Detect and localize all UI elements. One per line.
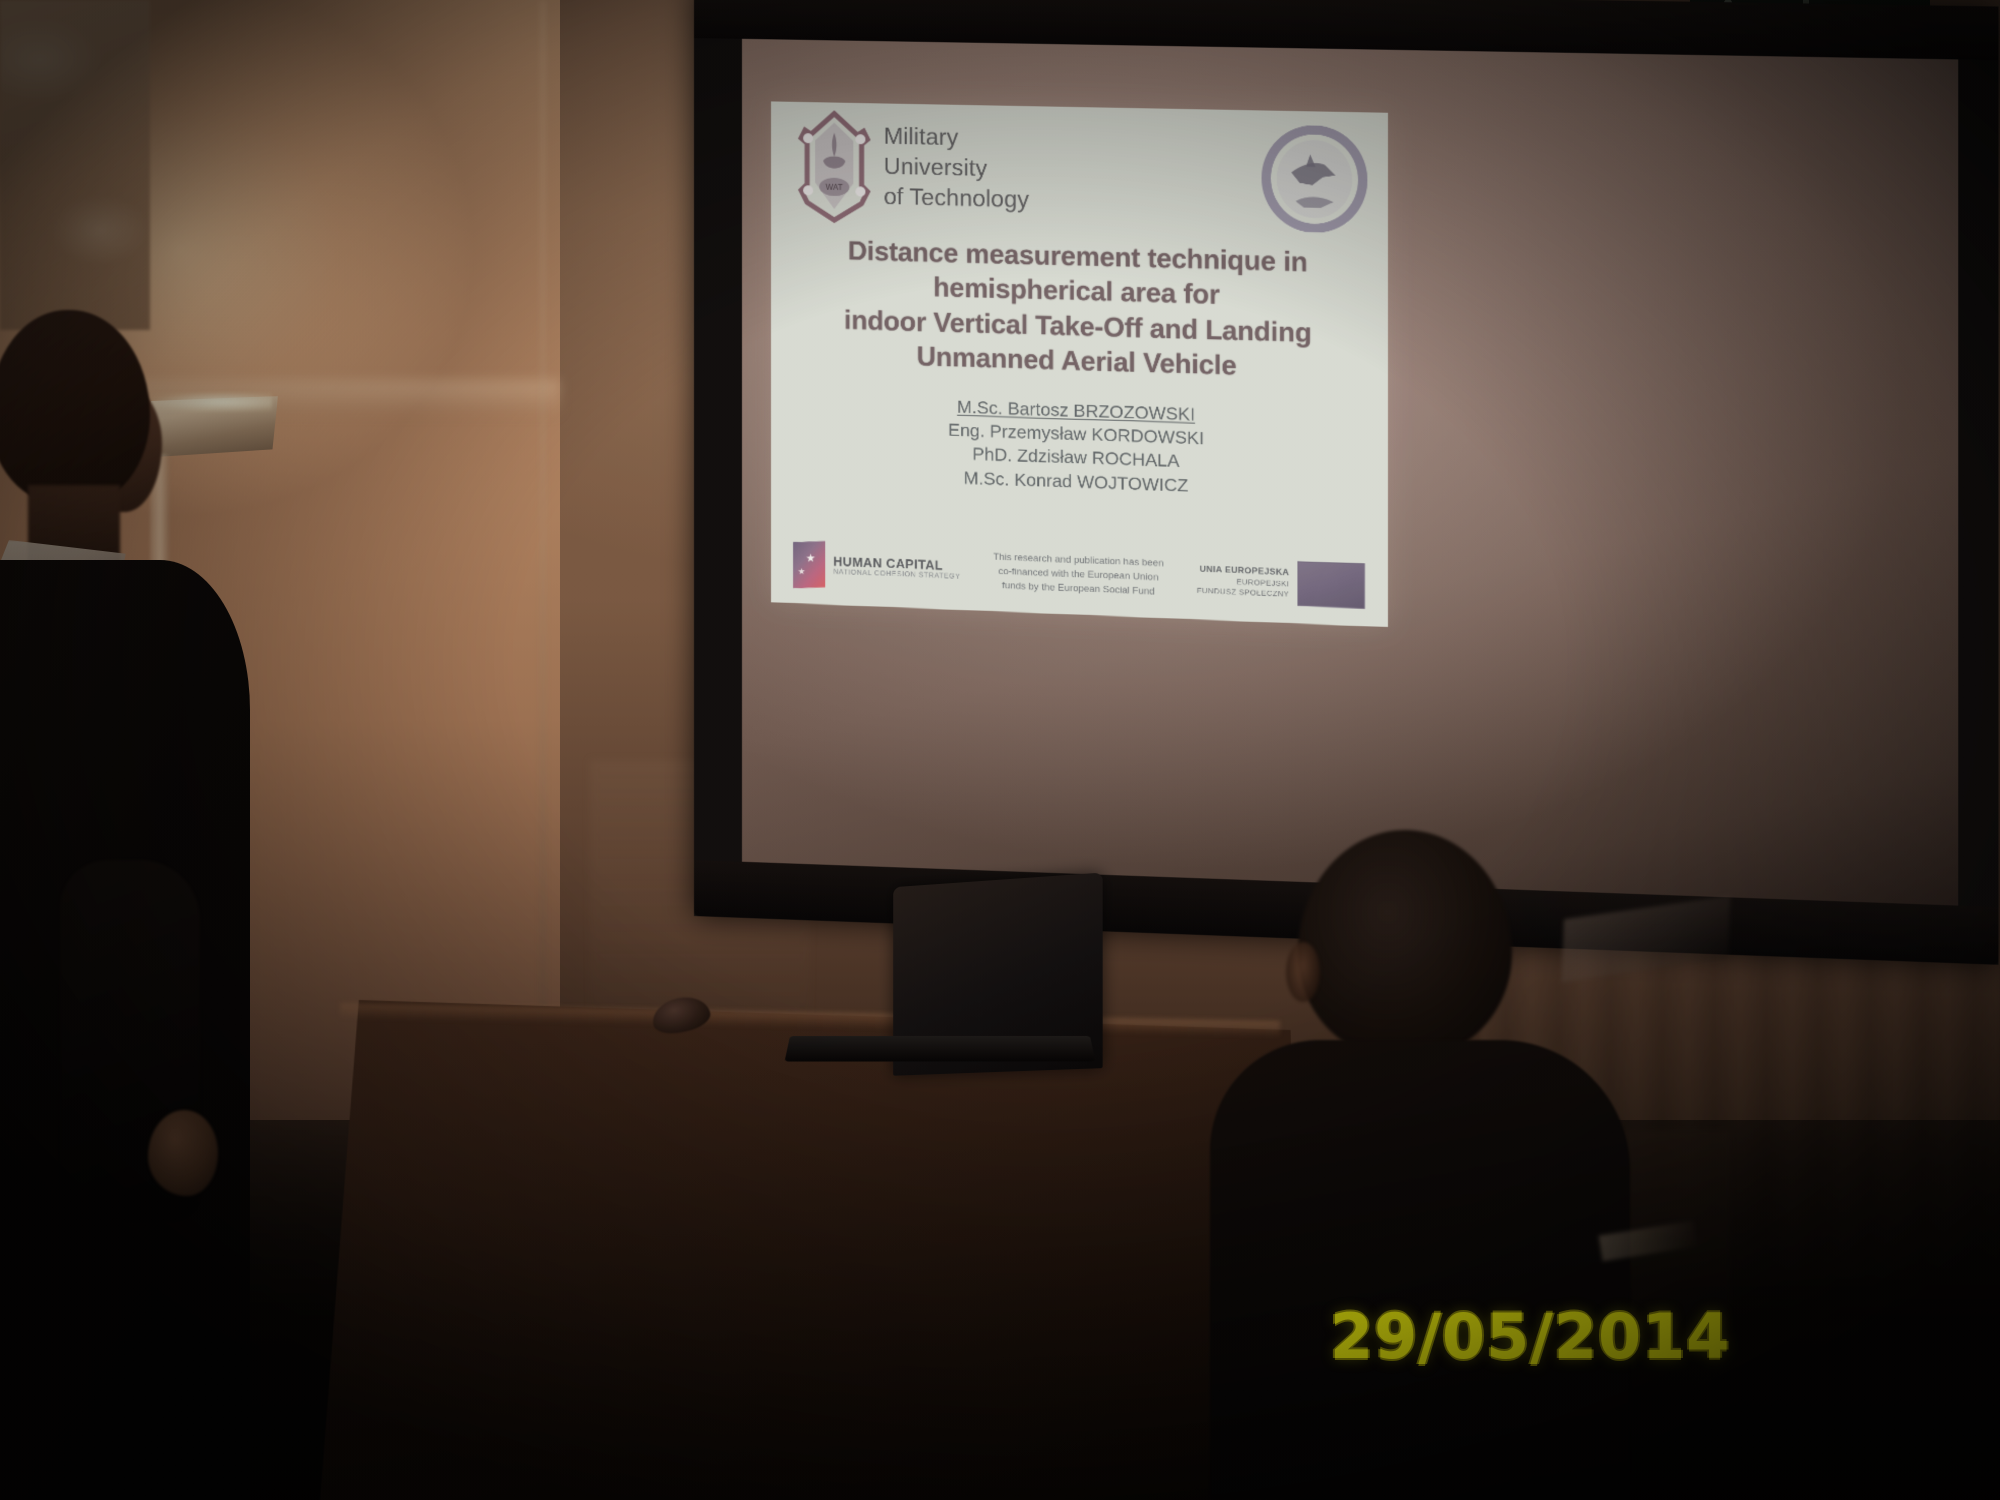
laptop-keyboard-base [785, 1036, 1096, 1062]
projection-screen-assembly: WAT Military University of Technology [694, 0, 1964, 946]
human-capital-logo: HUMAN CAPITAL NATIONAL COHESION STRATEGY [793, 541, 960, 594]
human-capital-flag-icon [793, 541, 825, 588]
wall-stone-patch [0, 0, 150, 330]
audience-ear [1286, 942, 1320, 1002]
star-glyph-secondary [798, 568, 805, 575]
audience-device [1562, 896, 1731, 982]
university-name-line-3: of Technology [884, 182, 1029, 215]
funding-note: This research and publication has been c… [993, 550, 1164, 600]
presentation-slide: WAT Military University of Technology [771, 101, 1388, 627]
projection-screen-surface: WAT Military University of Technology [742, 39, 1958, 906]
presenter-silhouette [0, 300, 330, 1500]
eu-flag-icon [1298, 561, 1365, 609]
presenter-head [0, 310, 150, 505]
military-university-crest-icon: WAT [793, 110, 876, 224]
university-name-line-1: Military [884, 122, 1029, 155]
photo-scene: WAT Military University of Technology [0, 0, 2000, 1500]
projection-screen-frame: WAT Military University of Technology [694, 0, 1998, 965]
university-name-line-2: University [884, 152, 1029, 185]
camera-date-stamp: 29/05/2014 [1330, 1300, 1730, 1373]
slide-footer: HUMAN CAPITAL NATIONAL COHESION STRATEGY… [771, 540, 1388, 611]
audience-shoulders [1210, 1040, 1630, 1500]
air-force-institute-emblem-icon [1260, 125, 1369, 234]
svg-text:WAT: WAT [826, 183, 843, 192]
european-union-logo: UNIA EUROPEJSKA EUROPEJSKI FUNDUSZ SPOŁE… [1197, 557, 1365, 609]
audience-head [1298, 830, 1512, 1058]
slide-author-list: M.Sc. Bartosz BRZOZOWSKI Eng. Przemysław… [771, 390, 1388, 505]
presentation-table [319, 1000, 1300, 1500]
audience-member-silhouette [1270, 830, 1730, 1500]
star-glyph [806, 553, 815, 562]
university-name: Military University of Technology [884, 122, 1029, 216]
slide-title: Distance measurement technique in hemisp… [771, 232, 1388, 389]
slide-header: WAT Military University of Technology [771, 101, 1388, 244]
presenter-hand [148, 1110, 218, 1196]
